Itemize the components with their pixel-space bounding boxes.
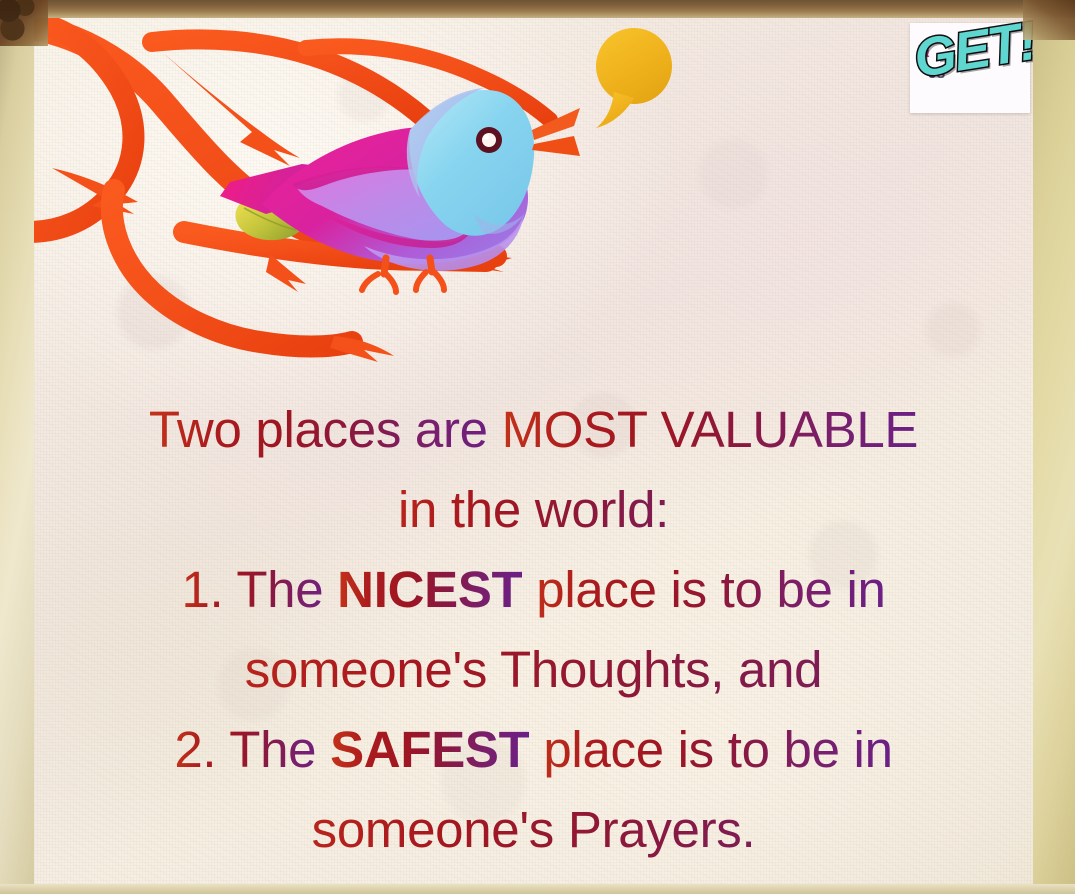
speech-bubble-icon — [596, 28, 672, 128]
quote-line-2: in the world: — [34, 470, 1033, 550]
frame-border-right — [1033, 0, 1075, 894]
quote-line-5-part-a: 2. The — [174, 721, 330, 778]
quote-line-2-text: in the world: — [398, 481, 669, 538]
quote-line-5-part-c: place is to be in — [529, 721, 892, 778]
parchment-background: ia es GET! Two places are MOST VALUABLE … — [34, 18, 1033, 884]
quote-line-3-part-c: place is to be in — [522, 561, 885, 618]
quote-line-3: 1. The NICEST place is to be in — [34, 550, 1033, 630]
quote-line-5-emphasis: SAFEST — [330, 721, 529, 778]
quote-line-1-part-a: Two places are — [149, 401, 502, 458]
corner-ornament-top-right — [1023, 0, 1075, 40]
watermark-badge: ia es GET! — [910, 23, 1030, 113]
bird-illustration — [34, 18, 1033, 418]
quote-image-canvas: ia es GET! Two places are MOST VALUABLE … — [0, 0, 1075, 894]
frame-border-top — [0, 0, 1075, 18]
frame-border-left — [0, 0, 34, 894]
quote-line-6-text: someone's Prayers. — [312, 801, 756, 858]
quote-line-5: 2. The SAFEST place is to be in — [34, 710, 1033, 790]
quote-text-block: Two places are MOST VALUABLE in the worl… — [34, 390, 1033, 870]
quote-line-6: someone's Prayers. — [34, 790, 1033, 870]
quote-line-4-text: someone's Thoughts, and — [245, 641, 822, 698]
quote-line-1: Two places are MOST VALUABLE — [34, 390, 1033, 470]
quote-line-3-emphasis: NICEST — [337, 561, 522, 618]
frame-border-bottom — [0, 884, 1075, 894]
quote-line-4: someone's Thoughts, and — [34, 630, 1033, 710]
quote-line-3-part-a: 1. The — [181, 561, 337, 618]
corner-ornament-top-left — [0, 0, 48, 46]
quote-line-1-part-b: MOST VALUABLE — [502, 401, 919, 458]
bird-eye-icon — [476, 127, 502, 153]
